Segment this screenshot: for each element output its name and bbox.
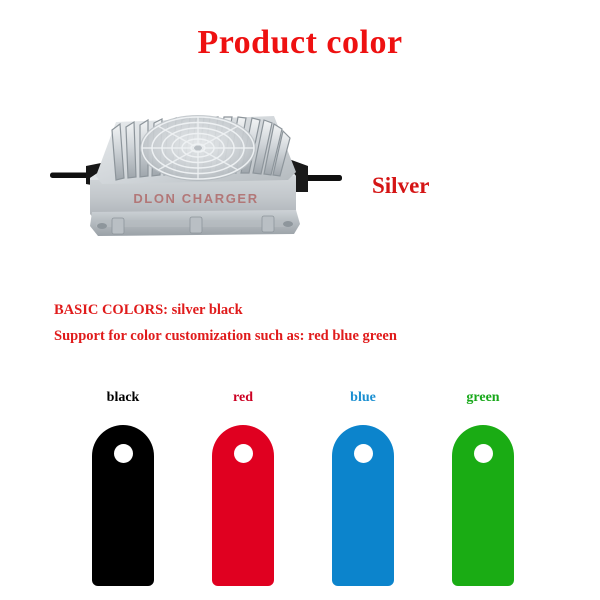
swatch-label-black: black (78, 390, 168, 406)
swatch-label-green: green (438, 390, 528, 406)
customization-text: Support for color customization such as:… (54, 328, 397, 345)
color-swatch-green[interactable] (452, 425, 514, 586)
charger-illustration: DLON CHARGER (50, 100, 342, 242)
product-color-page: Product color (0, 0, 600, 600)
swatch-hole-icon (114, 444, 133, 463)
silver-callout-label: Silver (372, 173, 430, 199)
page-title: Product color (0, 24, 600, 62)
basic-colors-text: BASIC COLORS: silver black (54, 302, 243, 319)
swatch-label-red: red (198, 390, 288, 406)
fan-grille (140, 115, 256, 181)
swatch-label-blue: blue (318, 390, 408, 406)
mounting-base (90, 210, 300, 236)
swatch-hole-icon (234, 444, 253, 463)
swatch-hole-icon (354, 444, 373, 463)
color-swatch-blue[interactable] (332, 425, 394, 586)
product-brand-text: DLON CHARGER (133, 191, 258, 206)
color-swatch-black[interactable] (92, 425, 154, 586)
color-swatch-red[interactable] (212, 425, 274, 586)
swatch-hole-icon (474, 444, 493, 463)
product-image-silver-charger: DLON CHARGER (50, 100, 342, 242)
